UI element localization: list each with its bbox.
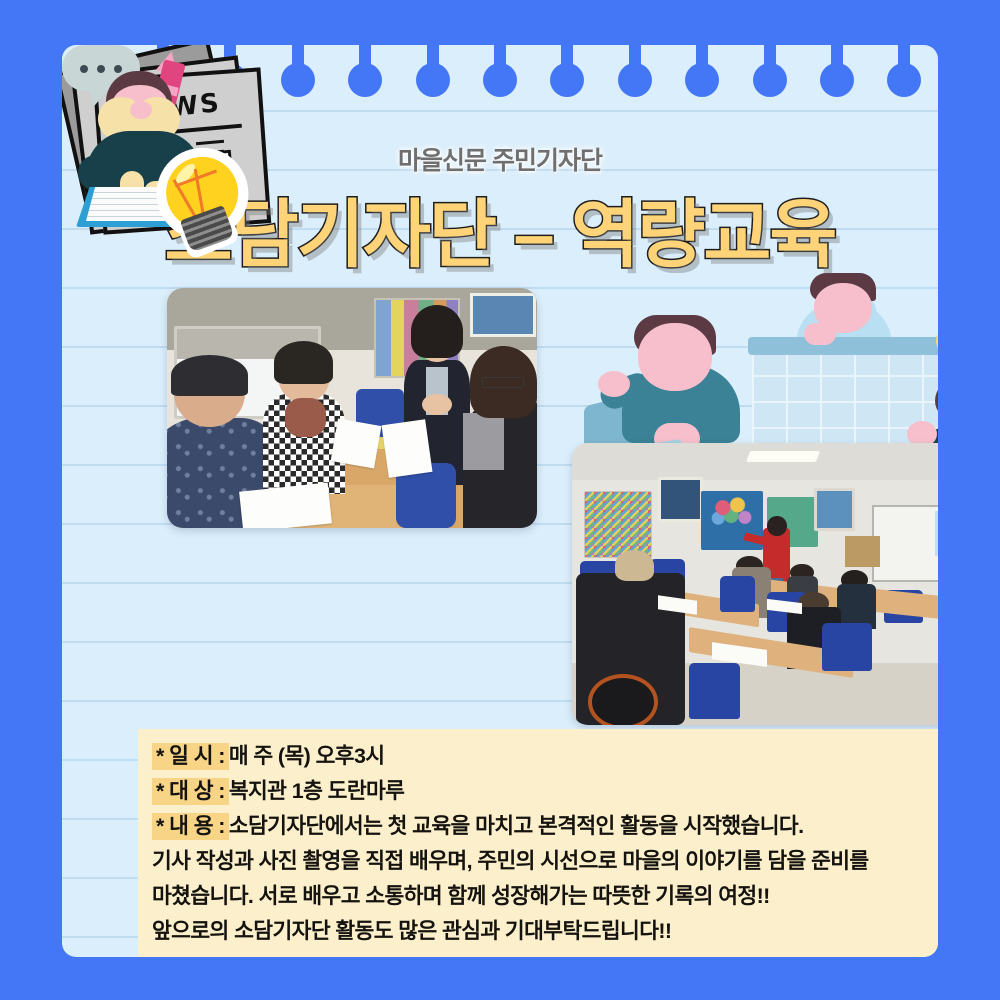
info-row-content: * 내 용 :소담기자단에서는 첫 교육을 마치고 본격적인 활동을 시작했습니…: [152, 809, 924, 844]
poster-canvas: 마을신문 주민기자단 소담기자단 – 역량교육: [0, 0, 1000, 1000]
info-label-content: * 내 용 :: [152, 813, 229, 840]
info-row-place: * 대 상 :복지관 1층 도란마루: [152, 774, 924, 809]
info-label-place: * 대 상 :: [152, 778, 229, 805]
photo-meeting: [167, 288, 537, 528]
info-body-line-3: 앞으로의 소담기자단 활동도 많은 관심과 기대부탁드립니다!!: [152, 914, 924, 949]
info-value-content: 소담기자단에서는 첫 교육을 마치고 본격적인 활동을 시작했습니다.: [229, 814, 804, 838]
binder-pin: [494, 45, 506, 77]
notebook-page: 마을신문 주민기자단 소담기자단 – 역량교육: [62, 45, 938, 957]
info-body-line-1: 기사 작성과 사진 촬영을 직접 배우며, 주민의 시선으로 마을의 이야기를 …: [152, 844, 924, 879]
binder-pin: [561, 45, 573, 77]
info-label-datetime: * 일 시 :: [152, 743, 229, 770]
info-body-line-2: 마쳤습니다. 서로 배우고 소통하며 함께 성장해가는 따뜻한 기록의 여정!!: [152, 879, 924, 914]
info-box: * 일 시 :매 주 (목) 오후3시 * 대 상 :복지관 1층 도란마루 *…: [138, 729, 938, 957]
binder-pin: [292, 45, 304, 77]
info-value-place: 복지관 1층 도란마루: [229, 779, 405, 803]
binder-pin: [898, 45, 910, 77]
idea-bulb-icon: [934, 327, 938, 369]
binder-pin: [696, 45, 708, 77]
binder-pin: [629, 45, 641, 77]
info-value-datetime: 매 주 (목) 오후3시: [229, 744, 385, 768]
info-row-datetime: * 일 시 :매 주 (목) 오후3시: [152, 739, 924, 774]
binder-pin: [359, 45, 371, 77]
binder-pin: [764, 45, 776, 77]
photo-classroom: [572, 443, 938, 725]
binder-pin: [427, 45, 439, 77]
binder-pin: [831, 45, 843, 77]
